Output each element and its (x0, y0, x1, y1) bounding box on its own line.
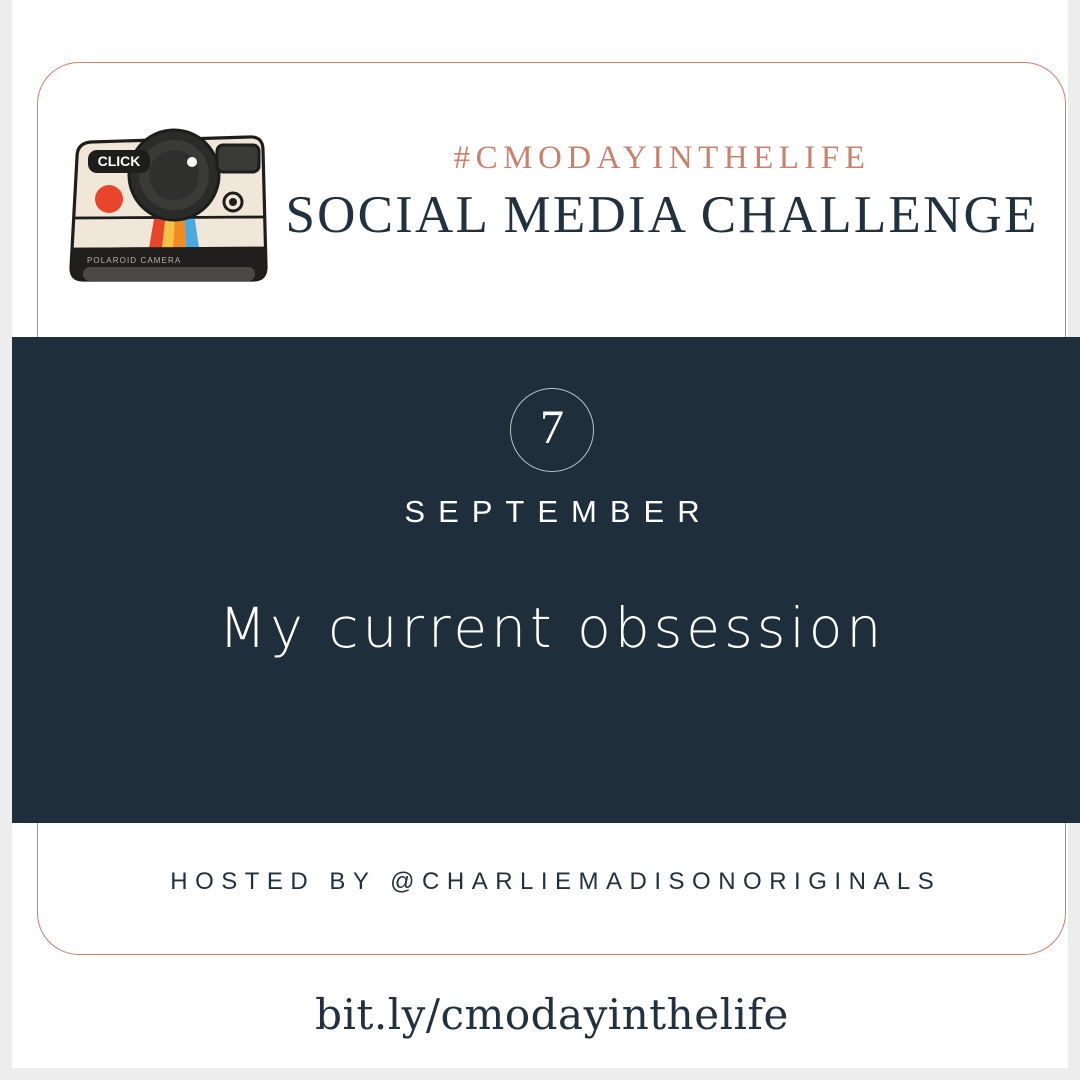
hosted-by-text: HOSTED BY @CHARLIEMADISONORIGINALS (12, 868, 1080, 896)
camera-click-label: CLICK (98, 153, 141, 169)
hashtag-text: #CMODAYINTHELIFE (282, 140, 1042, 176)
card-header: CLICK POLAROID CAMERA #CMODAYINTHELIFE S… (12, 62, 1080, 337)
day-number-badge: 7 (510, 388, 594, 472)
page-title: SOCIAL MEDIA CHALLENGE (282, 182, 1042, 248)
polaroid-camera-icon: CLICK POLAROID CAMERA (67, 117, 272, 297)
challenge-card: CLICK POLAROID CAMERA #CMODAYINTHELIFE S… (12, 0, 1068, 1068)
prompt-text: My current obsession (12, 595, 1080, 661)
month-label: SEPTEMBER (12, 494, 1080, 530)
title-block: #CMODAYINTHELIFE SOCIAL MEDIA CHALLENGE (282, 140, 1042, 249)
camera-brand-label: POLAROID CAMERA (87, 256, 181, 265)
challenge-day-panel: 7 SEPTEMBER My current obsession (12, 337, 1080, 823)
short-url-link[interactable]: bit.ly/cmodayinthelife (12, 990, 1080, 1039)
day-number: 7 (540, 404, 564, 456)
